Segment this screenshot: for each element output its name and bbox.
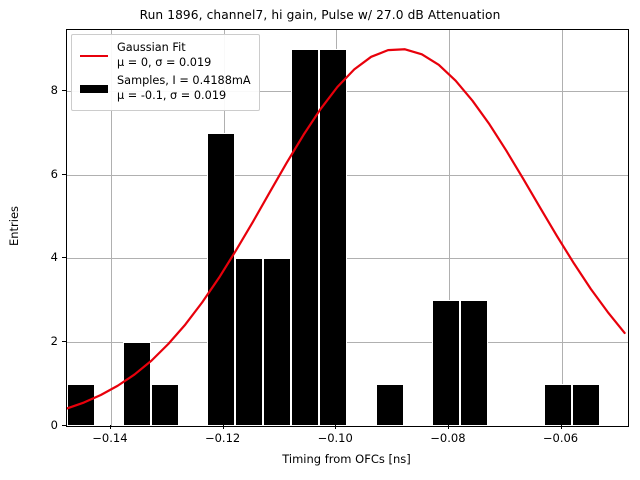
y-tick-label: 2 — [51, 334, 58, 348]
y-tick-label: 0 — [51, 418, 58, 432]
figure-canvas: Run 1896, channel7, hi gain, Pulse w/ 27… — [0, 0, 640, 480]
x-axis-label: Timing from OFCs [ns] — [66, 452, 627, 466]
y-tick-mark — [62, 425, 66, 426]
legend-label-line2: μ = -0.1, σ = 0.019 — [117, 89, 251, 104]
x-tick-label: −0.14 — [92, 431, 127, 445]
y-axis-label: Entries — [7, 136, 21, 316]
legend-label-line1: Samples, I = 0.4188mA — [117, 74, 251, 87]
legend: Gaussian Fit μ = 0, σ = 0.019 Samples, I… — [71, 34, 260, 111]
chart-title: Run 1896, channel7, hi gain, Pulse w/ 27… — [0, 8, 640, 22]
y-tick-mark — [62, 174, 66, 175]
x-tick-label: −0.10 — [318, 431, 353, 445]
legend-entry-samples: Samples, I = 0.4188mA μ = -0.1, σ = 0.01… — [79, 74, 251, 104]
y-tick-mark — [62, 257, 66, 258]
y-tick-mark — [62, 90, 66, 91]
legend-label-line2: μ = 0, σ = 0.019 — [117, 56, 211, 71]
legend-entry-gaussian-fit: Gaussian Fit μ = 0, σ = 0.019 — [79, 41, 251, 71]
y-tick-label: 4 — [51, 250, 58, 264]
y-tick-mark — [62, 341, 66, 342]
y-tick-label: 8 — [51, 83, 58, 97]
x-tick-label: −0.06 — [543, 431, 578, 445]
x-tick-mark — [335, 425, 336, 429]
x-tick-mark — [448, 425, 449, 429]
legend-patch-swatch-icon — [79, 82, 109, 96]
legend-label-line1: Gaussian Fit — [117, 41, 186, 54]
x-tick-label: −0.08 — [430, 431, 465, 445]
x-tick-mark — [561, 425, 562, 429]
legend-line-swatch-icon — [79, 49, 109, 63]
x-tick-label: −0.12 — [205, 431, 240, 445]
legend-entry-samples-label: Samples, I = 0.4188mA μ = -0.1, σ = 0.01… — [117, 74, 251, 104]
x-tick-mark — [223, 425, 224, 429]
legend-entry-gaussian-fit-label: Gaussian Fit μ = 0, σ = 0.019 — [117, 41, 211, 71]
x-tick-mark — [110, 425, 111, 429]
y-tick-label: 6 — [51, 167, 58, 181]
